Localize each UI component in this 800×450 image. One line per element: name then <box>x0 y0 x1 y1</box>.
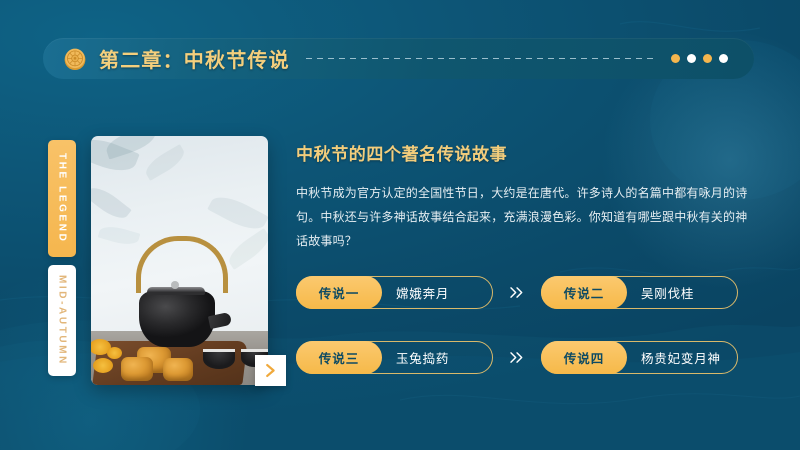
side-tab-the-legend-label: THE LEGEND <box>57 153 68 243</box>
legend-separator-icon <box>493 351 541 364</box>
photo-image <box>91 136 268 385</box>
legend-pill-3-badge: 传说三 <box>296 341 382 374</box>
legend-row-1: 传说一 嫦娥奔月 传说二 吴刚伐桂 <box>296 276 758 309</box>
feature-photo <box>91 136 268 385</box>
double-chevron-right-icon <box>509 286 526 299</box>
legend-pill-4-badge: 传说四 <box>541 341 627 374</box>
section-body-text: 中秋节成为官方认定的全国性节日，大约是在唐代。许多诗人的名篇中都有咏月的诗句。中… <box>296 181 754 253</box>
header-dashed-rule <box>306 58 657 59</box>
legend-pill-3[interactable]: 传说三 玉兔捣药 <box>296 341 493 374</box>
header-dot-4 <box>719 54 728 63</box>
legend-separator-icon <box>493 286 541 299</box>
legend-pill-grid: 传说一 嫦娥奔月 传说二 吴刚伐桂 传说三 玉兔捣药 <box>296 276 758 406</box>
legend-pill-1[interactable]: 传说一 嫦娥奔月 <box>296 276 493 309</box>
mooncake-icon <box>62 46 88 72</box>
side-tab-the-legend[interactable]: THE LEGEND <box>48 140 76 257</box>
header-dot-2 <box>687 54 696 63</box>
side-tab-mid-autumn-label: MID-AUTUMN <box>57 275 68 366</box>
legend-pill-1-badge: 传说一 <box>296 276 382 309</box>
header-dot-1 <box>671 54 680 63</box>
photo-flower <box>107 347 122 359</box>
chapter-title: 第二章：中秋节传说 <box>99 44 290 73</box>
legend-pill-2-label: 吴刚伐桂 <box>641 283 694 302</box>
photo-teapot-knob <box>171 281 179 289</box>
side-tab-mid-autumn[interactable]: MID-AUTUMN <box>48 265 76 376</box>
header-dot-group <box>671 54 728 63</box>
chapter-header-bar: 第二章：中秋节传说 <box>43 38 754 79</box>
photo-teapot-body <box>139 291 215 347</box>
photo-next-button[interactable] <box>255 355 286 386</box>
double-chevron-right-icon <box>509 351 526 364</box>
side-tab-group: THE LEGEND MID-AUTUMN <box>48 140 76 376</box>
legend-pill-4-label: 杨贵妃变月神 <box>641 348 721 367</box>
legend-pill-2-badge: 传说二 <box>541 276 627 309</box>
photo-mooncake <box>121 357 153 381</box>
legend-pill-4[interactable]: 传说四 杨贵妃变月神 <box>541 341 738 374</box>
legend-row-2: 传说三 玉兔捣药 传说四 杨贵妃变月神 <box>296 341 758 374</box>
section-title: 中秋节的四个著名传说故事 <box>296 140 758 165</box>
slide-root: 第二章：中秋节传说 THE LEGEND MID-AUTUMN <box>0 0 800 450</box>
photo-flower <box>93 358 113 373</box>
chevron-right-icon <box>263 363 278 378</box>
legend-pill-1-label: 嫦娥奔月 <box>396 283 449 302</box>
photo-tea-bowl <box>203 349 235 369</box>
photo-mooncake <box>163 358 193 381</box>
content-block: 中秋节的四个著名传说故事 中秋节成为官方认定的全国性节日，大约是在唐代。许多诗人… <box>296 140 758 253</box>
legend-pill-2[interactable]: 传说二 吴刚伐桂 <box>541 276 738 309</box>
header-dot-3 <box>703 54 712 63</box>
legend-pill-3-label: 玉兔捣药 <box>396 348 449 367</box>
